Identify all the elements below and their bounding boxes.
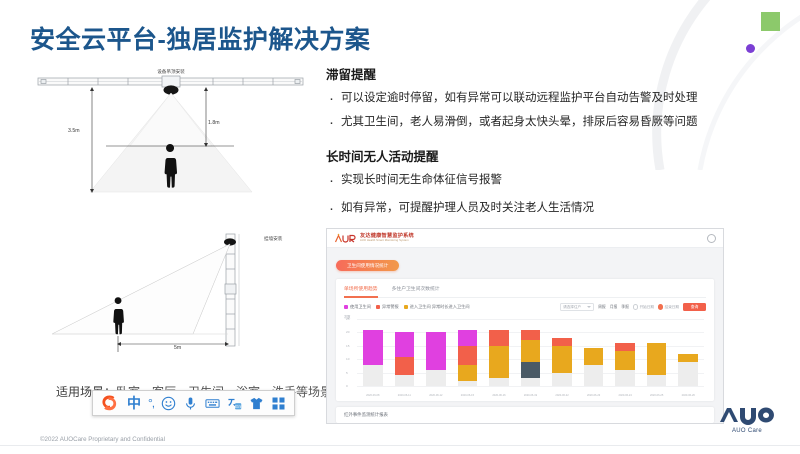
sogou-s-logo-icon[interactable] [99,393,119,413]
skin-shirt-icon[interactable] [249,396,264,411]
x-axis-tick: 2020-06-12 [420,394,452,397]
dashboard-body: 卫生间使用情况统计 单场所使用趋势 多住户卫生间次数统计 使用卫生间 异 [327,248,723,423]
wall-distance-dimension: 5m [174,345,181,351]
legend-item: 异常警报 [376,304,399,310]
list-item: 尤其卫生间，老人易滑倒，或者起身太快头晕，排尿后容易昏厥等问题 [326,114,776,131]
copyright-text: ©2022 AUOCare Proprietary and Confidenti… [40,436,165,443]
range-quarter[interactable]: 季报 [621,305,629,310]
dashboard-screenshot: 友达健康智慧监护系统 AUO Health Smart Monitoring S… [326,228,724,424]
decorative-purple-dot [746,44,755,53]
footer-divider [0,445,800,446]
chart-x-axis-labels: 2020-06-082020-06-112020-06-122020-06-15… [357,394,704,397]
content-column: 滞留提醒 可以设定逾时停留，如有异常可以联动远程监护平台自动告警及时处理 尤其卫… [326,64,776,228]
tab-multi-resident-stats[interactable]: 多住户卫生间次数统计 [392,285,440,294]
bar-segment [552,338,572,346]
bar-segment [521,340,541,361]
bar-slot[interactable] [483,319,515,386]
bar-segment [584,348,604,364]
chart-controls: 使用卫生间 异常警报 进入卫生间 异常时长进入卫生间 请 [344,303,706,311]
section-heading-stay-alert: 滞留提醒 [326,64,776,83]
legend-swatch [404,305,408,309]
bar-slot[interactable] [357,319,389,386]
emoji-icon[interactable] [161,396,176,411]
y-axis-tick: 20 [346,330,349,334]
bullet-list-inactivity-alert: 实现长时间无生命体征信号报警 如有异常，可提醒护理人员及时关注老人生活情况 [326,172,776,216]
legend-swatch [344,305,348,309]
legend-item: 进入卫生间 异常时长进入卫生间 [404,304,470,310]
x-axis-tick: 2020-06-11 [389,394,421,397]
aucare-logo-mark [334,233,356,244]
report-footer-label: 红外事件监测统计报表 [336,407,714,423]
ceiling-height-dimension: 3.5m [68,128,80,134]
bar-segment [363,330,383,365]
bar-segment [458,381,478,386]
stacked-bar[interactable] [615,343,635,386]
auo-logo: AUO Care [718,405,776,434]
range-week[interactable]: 周报 [598,305,606,310]
x-axis-tick: 2020-06-08 [357,394,389,397]
bar-segment [647,375,667,386]
y-axis-tick: 10 [346,357,349,361]
list-item: 实现长时间无生命体征信号报警 [326,172,776,189]
start-date-radio[interactable]: 开始日期 [633,304,654,309]
list-item: 如有异常，可提醒护理人员及时关注老人生活情况 [326,200,776,217]
ceiling-mount-diagram: 设备吊顶安装 3.5m 1.8m [28,66,313,226]
bar-slot[interactable] [452,319,484,386]
bar-segment [521,378,541,386]
bar-slot[interactable] [389,319,421,386]
end-date-radio[interactable]: 结束日期 [658,304,679,309]
ime-language-mode[interactable]: 中 [127,393,141,413]
range-month[interactable]: 月报 [610,305,618,310]
legend-label: 异常警报 [382,304,399,310]
stacked-bar[interactable] [426,332,446,386]
bar-slot[interactable] [609,319,641,386]
bar-segment [458,365,478,381]
bar-segment [363,365,383,386]
x-axis-tick: 2020-06-19 [515,394,547,397]
list-item: 可以设定逾时停留，如有异常可以联动远程监护平台自动告警及时处理 [326,90,776,107]
bar-segment [584,365,604,386]
sogou-ime-toolbar[interactable]: 中 °, En [92,390,295,416]
auo-wordmark [718,405,776,425]
app-grid-icon[interactable] [271,396,286,411]
ceiling-diagram-label: 设备吊顶安装 [157,69,185,75]
decorative-green-square [761,12,780,31]
bar-segment [615,343,635,351]
chart-filters: 请选择住户 周报 月报 季报 开始日期 结束日期 [560,303,706,311]
x-axis-tick: 2020-06-22 [546,394,578,397]
bar-segment [678,354,698,362]
stacked-bar[interactable] [363,330,383,386]
x-axis-tick: 2020-06-24 [609,394,641,397]
tab-single-venue-trend[interactable]: 单场所使用趋势 [344,285,378,294]
stacked-bar[interactable] [458,330,478,386]
y-axis-tick: 0 [346,384,348,388]
legend-swatch [376,305,380,309]
search-button[interactable]: 查询 [683,303,706,311]
bar-segment [458,330,478,346]
stacked-bar[interactable] [584,348,604,386]
auo-logo-subtitle: AUO Care [718,428,776,434]
resident-select[interactable]: 请选择住户 [560,303,594,311]
bar-segment [395,357,415,376]
chart-legend: 使用卫生间 异常警报 进入卫生间 异常时长进入卫生间 [344,304,470,310]
end-date-label: 结束日期 [665,305,679,310]
bullet-list-stay-alert: 可以设定逾时停留，如有异常可以联动远程监护平台自动告警及时处理 尤其卫生间，老人… [326,90,776,130]
wall-diagram-label: 挂墙安装 [264,236,282,242]
legend-item: 使用卫生间 [344,304,371,310]
slide-canvas: 安全云平台-独居监护解决方案 [0,0,800,454]
bar-slot[interactable] [546,319,578,386]
bar-segment [426,370,446,386]
gridline [357,386,704,387]
chevron-down-icon [587,306,591,308]
y-axis-tick: 15 [346,344,349,348]
x-axis-tick: 2020-06-23 [578,394,610,397]
page-title: 安全云平台-独居监护解决方案 [30,20,370,56]
bar-segment [395,332,415,356]
chart-plot-area: 0510152025 [357,319,704,386]
dashboard-topbar: 友达健康智慧监护系统 AUO Health Smart Monitoring S… [327,229,723,248]
chart-bars [357,319,704,386]
x-axis-tick: 2020-06-16 [483,394,515,397]
dashboard-title-en: AUO Health Smart Monitoring System [360,240,414,243]
y-axis-tick: 5 [346,371,348,375]
bar-slot[interactable] [578,319,610,386]
stacked-bar[interactable] [489,330,509,386]
bar-segment [647,343,667,375]
ime-punctuation-mode[interactable]: °, [148,396,154,410]
wall-mount-diagram: 挂墙安装 5m [28,224,313,384]
bar-segment [395,375,415,386]
y-axis-tick: 25 [346,317,349,321]
stacked-bar[interactable] [395,332,415,386]
bar-segment [458,346,478,365]
translate-icon[interactable]: En [227,396,242,411]
start-date-label: 开始日期 [640,305,654,310]
dashboard-topbar-right [707,234,716,243]
stacked-bar[interactable] [647,343,667,386]
x-axis-tick: 2020-06-15 [452,394,484,397]
bar-slot[interactable] [672,319,704,386]
bar-segment [489,346,509,378]
bar-segment [552,346,572,373]
stacked-bar[interactable] [521,330,541,386]
ceiling-inner-dimension: 1.8m [208,120,220,126]
bathroom-usage-chart: 次数 0510152025 2020-06-082020-06-112020-0… [344,315,706,397]
bar-segment [678,362,698,386]
x-axis-tick: 2020-06-25 [641,394,673,397]
section-heading-inactivity-alert: 长时间无人活动提醒 [326,146,776,165]
aucare-logo: 友达健康智慧监护系统 AUO Health Smart Monitoring S… [334,233,414,244]
bathroom-usage-button[interactable]: 卫生间使用情况统计 [336,260,399,271]
bar-slot[interactable] [641,319,673,386]
stacked-bar[interactable] [552,338,572,386]
legend-label: 进入卫生间 异常时长进入卫生间 [410,304,470,310]
bar-segment [489,378,509,386]
bar-segment [615,370,635,386]
stacked-bar[interactable] [678,354,698,386]
bar-slot[interactable] [420,319,452,386]
x-axis-tick: 2020-06-26 [672,394,704,397]
radio-icon [633,304,638,309]
settings-icon[interactable] [707,234,716,243]
legend-label: 使用卫生间 [350,304,371,310]
bar-segment [521,362,541,378]
resident-select-value: 请选择住户 [563,305,581,310]
radio-icon [658,304,663,309]
microphone-icon[interactable] [183,396,198,411]
bar-segment [489,330,509,346]
chart-tabs: 单场所使用趋势 多住户卫生间次数统计 [344,285,706,298]
bar-segment [426,332,446,370]
keyboard-icon[interactable] [205,396,220,411]
bar-segment [521,330,541,341]
bar-slot[interactable] [515,319,547,386]
aucare-logo-text: 友达健康智慧监护系统 AUO Health Smart Monitoring S… [360,234,414,243]
chart-card: 单场所使用趋势 多住户卫生间次数统计 使用卫生间 异常警报 [336,279,714,401]
installation-diagrams: 设备吊顶安装 3.5m 1.8m [28,66,313,396]
bar-segment [552,373,572,386]
bar-segment [615,351,635,370]
svg-text:En: En [235,403,241,409]
